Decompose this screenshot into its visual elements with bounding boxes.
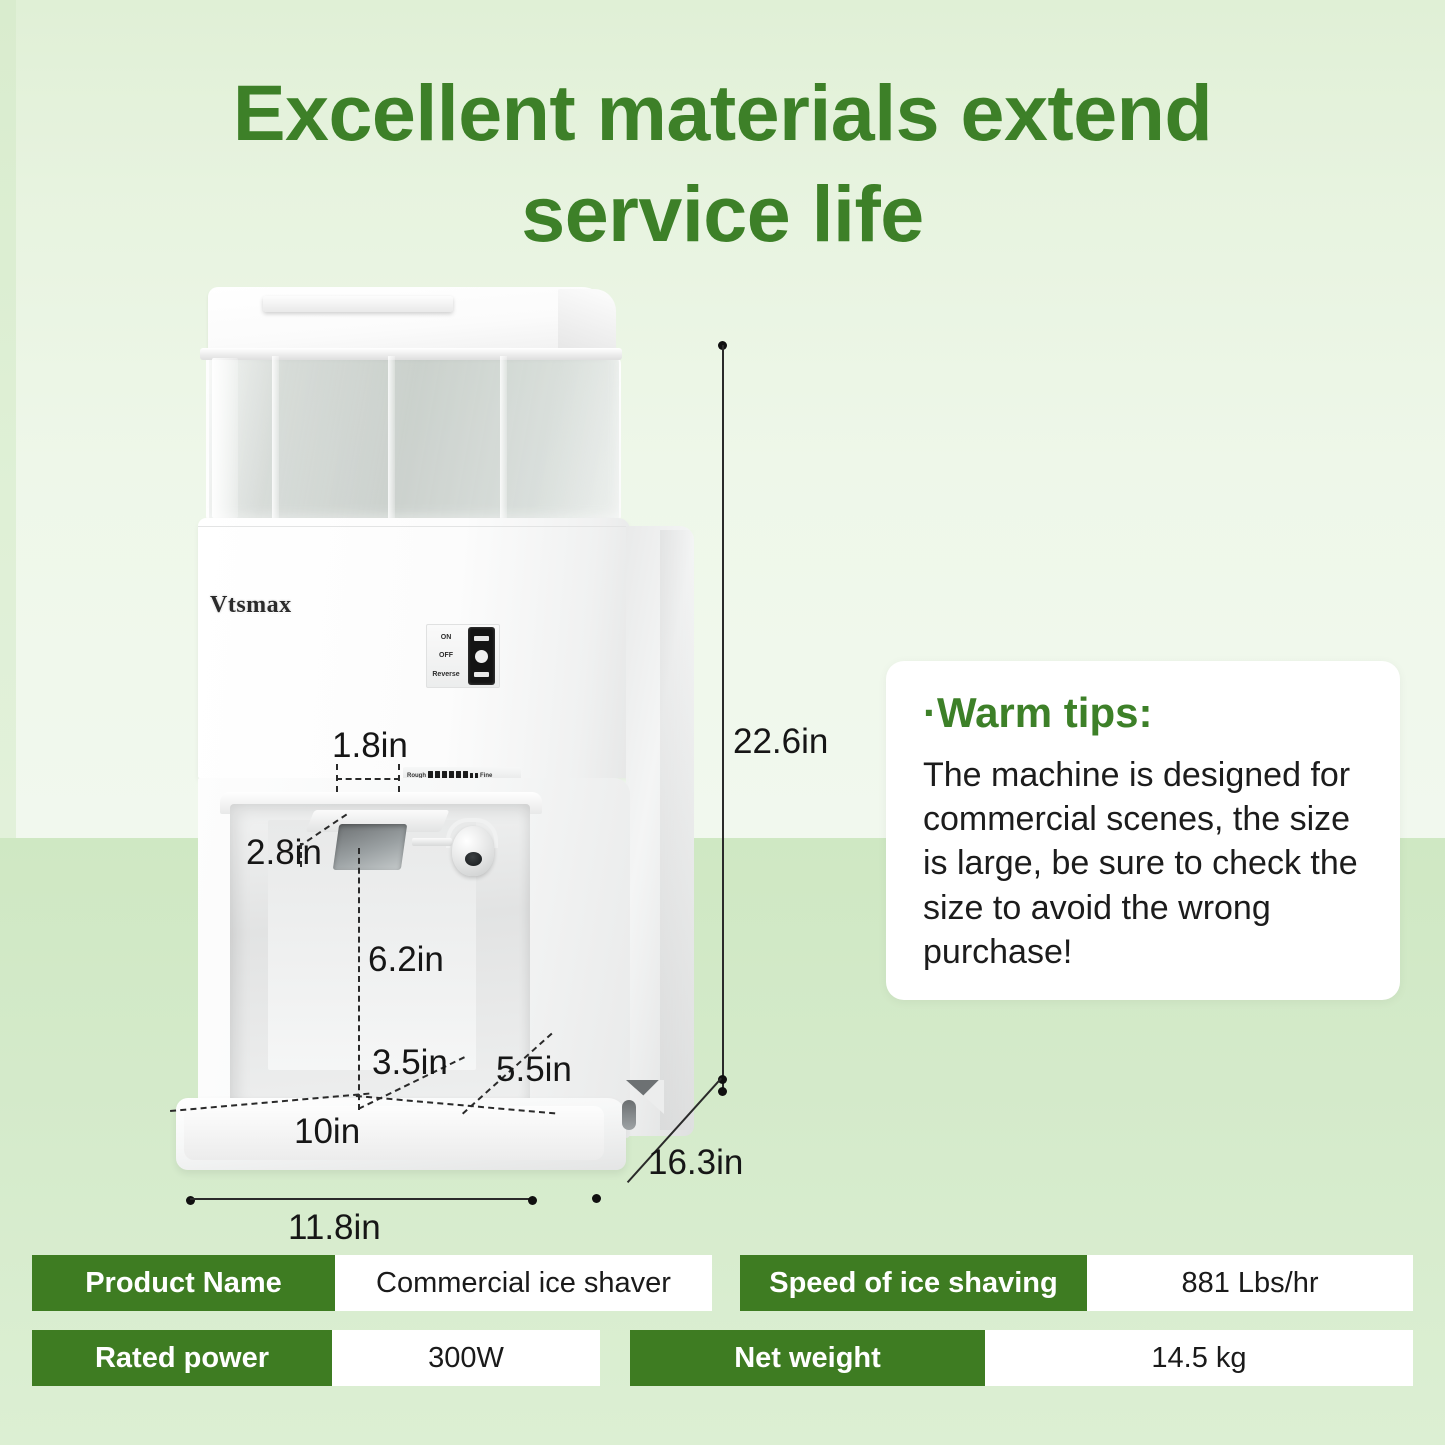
dim-line-1-8: [336, 778, 400, 780]
ice-chute-outlet: [333, 824, 407, 870]
dim-label-22-6in: 22.6in: [733, 722, 828, 762]
knob-body: [452, 826, 494, 876]
power-switch-panel[interactable]: ON OFF Reverse: [426, 624, 500, 688]
warm-tips-heading: ·Warm tips:: [923, 689, 1152, 737]
spec-value-net-weight: 14.5 kg: [985, 1330, 1413, 1386]
hopper-rib: [500, 356, 507, 520]
knob-hole: [465, 852, 482, 866]
hopper-rib: [272, 356, 279, 520]
dim-label-2-8in: 2.8in: [246, 833, 322, 873]
knob-stem: [412, 838, 452, 846]
dim-endpoint-22-6-bottom: [718, 1087, 727, 1096]
warm-tips-body: The machine is designed for commercial s…: [923, 753, 1371, 974]
rocker-bottom-bar: [474, 672, 489, 677]
dim-label-3-5in: 3.5in: [372, 1043, 448, 1083]
dim-label-10in: 10in: [294, 1112, 360, 1152]
spec-table: Product Name Commercial ice shaver Speed…: [0, 1250, 1445, 1410]
dim-label-5-5in: 5.5in: [496, 1050, 572, 1090]
machine-base-front: [184, 1106, 604, 1160]
dim-endpoint-16-3-near: [592, 1194, 601, 1203]
dim-line-6-2: [358, 848, 360, 1110]
page-title-line-2: service life: [0, 163, 1445, 264]
dim-endpoint-11-8-right: [528, 1196, 537, 1205]
hopper-highlight: [212, 358, 238, 518]
ice-hopper-tank: [206, 354, 621, 522]
spec-label-product-name: Product Name: [32, 1255, 335, 1311]
drain-port: [622, 1100, 636, 1130]
warm-tips-card: ·Warm tips: The machine is designed for …: [886, 661, 1400, 1000]
hopper-rim: [200, 348, 622, 360]
dim-line-11-8: [190, 1198, 532, 1200]
dim-label-11-8in: 11.8in: [288, 1208, 381, 1248]
dim-line-22-6: [722, 345, 724, 1091]
spec-label-speed: Speed of ice shaving: [740, 1255, 1087, 1311]
hopper-rib: [388, 356, 395, 520]
rocker-switch[interactable]: [468, 627, 495, 685]
switch-label-group: ON OFF Reverse: [429, 628, 463, 684]
brand-logo: Vtsmax: [210, 592, 292, 619]
dim-label-1-8in: 1.8in: [332, 726, 408, 766]
spec-value-product-name: Commercial ice shaver: [335, 1255, 712, 1311]
switch-label-reverse: Reverse: [429, 671, 463, 678]
page-title: Excellent materials extend service life: [0, 62, 1445, 264]
page-title-line-1: Excellent materials extend: [233, 68, 1212, 157]
machine-body-shading: [660, 530, 696, 1130]
spec-value-rated-power: 300W: [332, 1330, 600, 1386]
dim-label-16-3in: 16.3in: [648, 1143, 743, 1183]
spec-value-speed: 881 Lbs/hr: [1087, 1255, 1413, 1311]
spec-label-rated-power: Rated power: [32, 1330, 332, 1386]
switch-label-on: ON: [429, 634, 463, 641]
adjustment-knob[interactable]: [446, 818, 498, 878]
infographic-page: Excellent materials extend service life …: [0, 0, 1445, 1445]
rocker-top-bar: [474, 636, 489, 641]
spec-label-net-weight: Net weight: [630, 1330, 985, 1386]
switch-label-off: OFF: [429, 652, 463, 659]
dim-label-6-2in: 6.2in: [368, 940, 444, 980]
rocker-center-dot: [475, 650, 488, 663]
product-illustration: Vtsmax ON OFF Reverse Rough Fine: [160, 280, 740, 1180]
machine-body-upper: [198, 518, 630, 778]
